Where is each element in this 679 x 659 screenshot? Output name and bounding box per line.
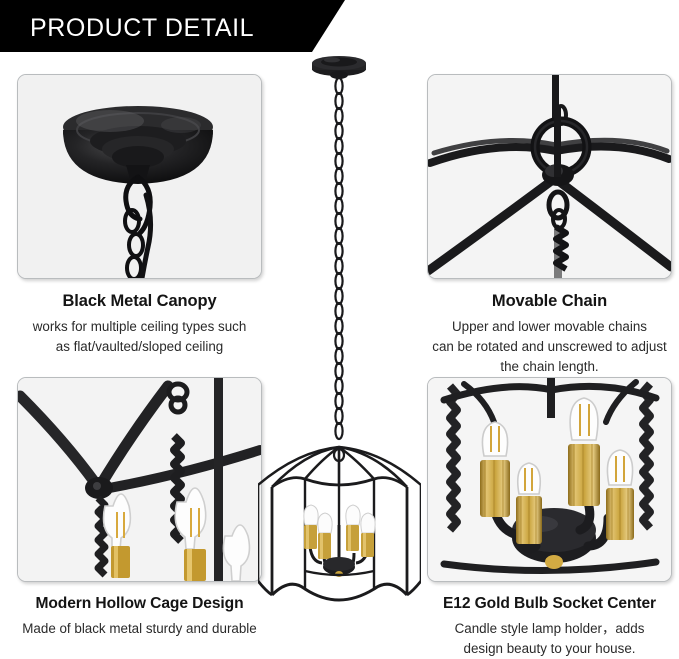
feature-block-black-metal-canopy: Black Metal Canopy works for multiple ce… bbox=[17, 74, 262, 357]
feature-description: Made of black metal sturdy and durable bbox=[17, 619, 262, 639]
feature-description: Candle style lamp holder，adds design bea… bbox=[427, 619, 672, 659]
gold-bulb-socket-photo bbox=[427, 377, 672, 582]
black-metal-canopy-photo bbox=[17, 74, 262, 279]
feature-block-hollow-cage: Modern Hollow Cage Design Made of black … bbox=[17, 377, 262, 639]
page-title: PRODUCT DETAIL bbox=[30, 13, 254, 43]
canopy-illustration bbox=[18, 75, 261, 278]
feature-block-gold-socket: E12 Gold Bulb Socket Center Candle style… bbox=[427, 377, 672, 659]
feature-line: as flat/vaulted/sloped ceiling bbox=[17, 337, 262, 357]
feature-description: Upper and lower movable chains can be ro… bbox=[427, 317, 672, 377]
feature-line: Made of black metal sturdy and durable bbox=[17, 619, 262, 639]
ceiling-canopy bbox=[312, 56, 366, 79]
center-product-image bbox=[258, 55, 421, 630]
feature-title: Movable Chain bbox=[427, 292, 672, 311]
feature-line: the chain length. bbox=[427, 357, 672, 377]
feature-title: Black Metal Canopy bbox=[17, 292, 262, 311]
feature-line: design beauty to your house. bbox=[427, 639, 672, 659]
feature-line: Candle style lamp holder，adds bbox=[427, 619, 672, 639]
movable-chain-photo bbox=[427, 74, 672, 279]
feature-title: E12 Gold Bulb Socket Center bbox=[427, 595, 672, 613]
cage-frame bbox=[258, 447, 421, 600]
candle-bulb bbox=[346, 505, 360, 551]
feature-line: works for multiple ceiling types such bbox=[17, 317, 262, 337]
feature-line: Upper and lower movable chains bbox=[427, 317, 672, 337]
feature-block-movable-chain: Movable Chain Upper and lower movable ch… bbox=[427, 74, 672, 377]
hollow-cage-photo bbox=[17, 377, 262, 582]
gold-socket-illustration bbox=[428, 378, 671, 581]
candle-bulb bbox=[318, 513, 332, 559]
lantern-cage-chandelier-illustration bbox=[258, 55, 421, 630]
feature-line: can be rotated and unscrewed to adjust bbox=[427, 337, 672, 357]
movable-chain-illustration bbox=[428, 75, 671, 278]
hollow-cage-illustration bbox=[18, 378, 261, 581]
candle-bulb bbox=[361, 513, 375, 557]
feature-description: works for multiple ceiling types such as… bbox=[17, 317, 262, 357]
candle-bulb bbox=[304, 505, 318, 549]
feature-title: Modern Hollow Cage Design bbox=[17, 595, 262, 613]
hanging-chain bbox=[335, 78, 342, 439]
